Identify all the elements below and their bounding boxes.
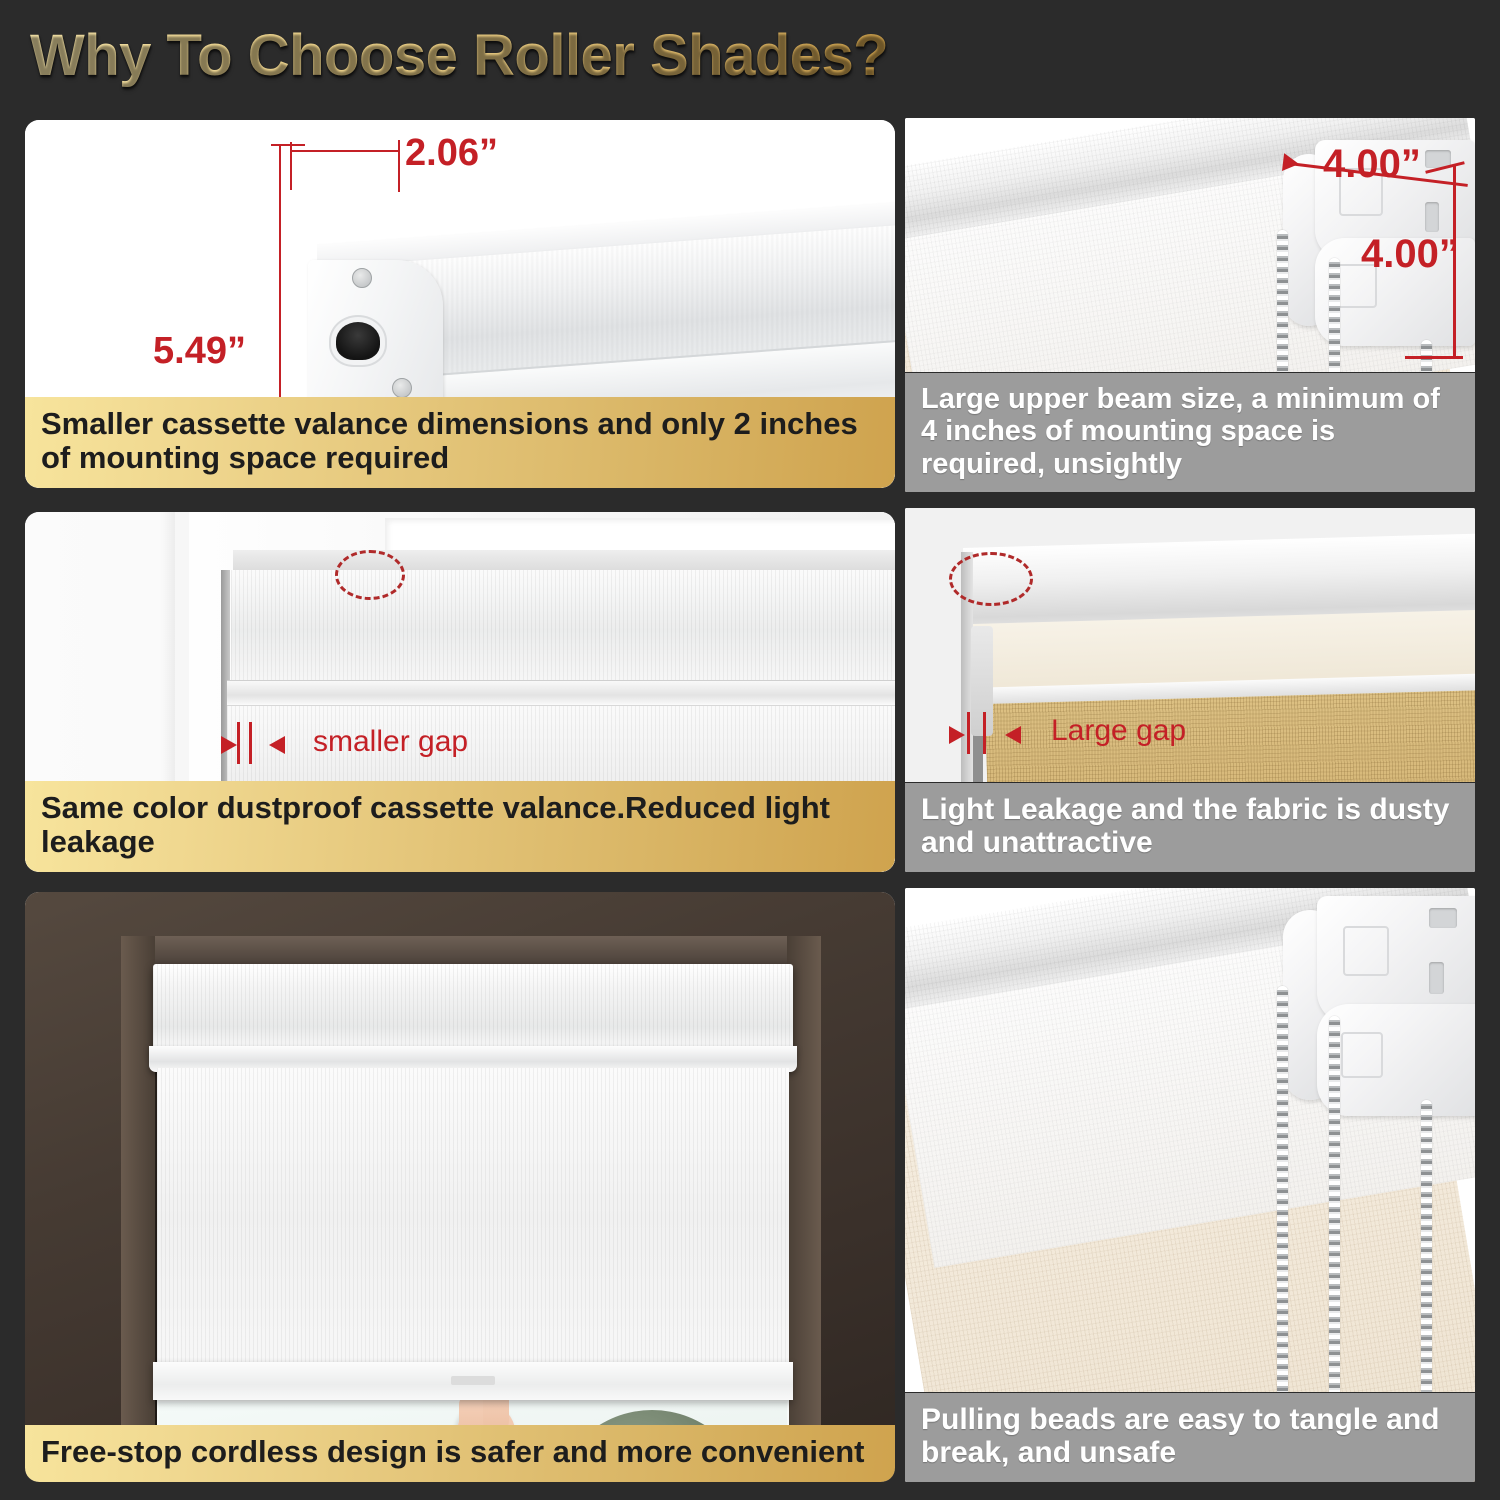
panel-con-beads: Pulling beads are easy to tangle and bre… xyxy=(905,888,1475,1482)
panel-caption-pro-small-gap: Same color dustproof cassette valance.Re… xyxy=(25,781,895,872)
dimension-label-beam-width: 4.00” xyxy=(1323,142,1421,187)
dimension-label-beam-height: 4.00” xyxy=(1361,232,1459,277)
page-title: Why To Choose Roller Shades? xyxy=(30,22,888,89)
panel-con-large-gap: Large gap Light Leakage and the fabric i… xyxy=(905,508,1475,872)
highlight-circle-icon xyxy=(949,552,1033,606)
gap-arrow-left-icon xyxy=(221,736,237,754)
panel-image-cordless-window xyxy=(25,892,895,1482)
panel-caption-con-beam-size: Large upper beam size, a minimum of 4 in… xyxy=(905,372,1475,492)
gap-arrow-right-icon xyxy=(269,736,285,754)
gap-arrow-left-icon xyxy=(949,726,965,744)
panel-caption-con-large-gap: Light Leakage and the fabric is dusty an… xyxy=(905,782,1475,872)
panel-pro-small-gap: smaller gap Same color dustproof cassett… xyxy=(25,512,895,872)
dimension-label-width: 2.06” xyxy=(405,132,498,175)
panel-pro-cassette-size: 2.06” 5.49” Smaller cassette valance dim… xyxy=(25,120,895,488)
panel-caption-pro-cassette-size: Smaller cassette valance dimensions and … xyxy=(25,397,895,488)
highlight-circle-icon xyxy=(335,550,405,600)
panel-caption-con-beads: Pulling beads are easy to tangle and bre… xyxy=(905,1392,1475,1482)
dimension-label-height: 5.49” xyxy=(153,330,246,373)
panel-con-beam-size: 4.00” 4.00” Large upper beam size, a min… xyxy=(905,118,1475,492)
panel-caption-pro-cordless: Free-stop cordless design is safer and m… xyxy=(25,1425,895,1482)
panel-pro-cordless: Free-stop cordless design is safer and m… xyxy=(25,892,895,1482)
gap-arrow-right-icon xyxy=(1005,726,1021,744)
gap-callout-label: Large gap xyxy=(1051,714,1186,748)
gap-callout-label: smaller gap xyxy=(313,725,468,759)
